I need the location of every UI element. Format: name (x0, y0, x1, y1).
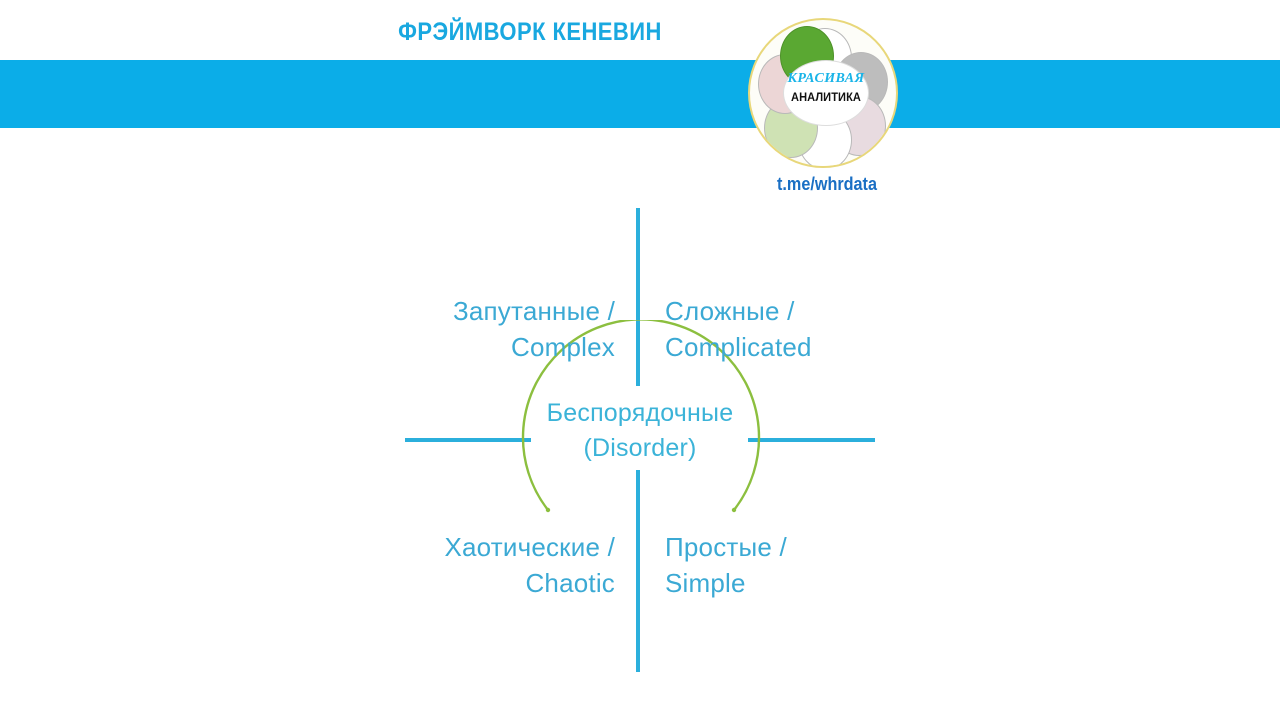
center-label-disorder: Беспорядочные (Disorder) (500, 396, 780, 466)
cynefin-diagram: Запутанные / Complex Сложные / Complicat… (0, 0, 1280, 720)
quadrant-label-complex: Запутанные / Complex (335, 294, 615, 366)
quadrant-label-chaotic: Хаотические / Chaotic (325, 530, 615, 602)
quadrant-label-simple: Простые / Simple (665, 530, 945, 602)
quadrant-label-complicated: Сложные / Complicated (665, 294, 945, 366)
